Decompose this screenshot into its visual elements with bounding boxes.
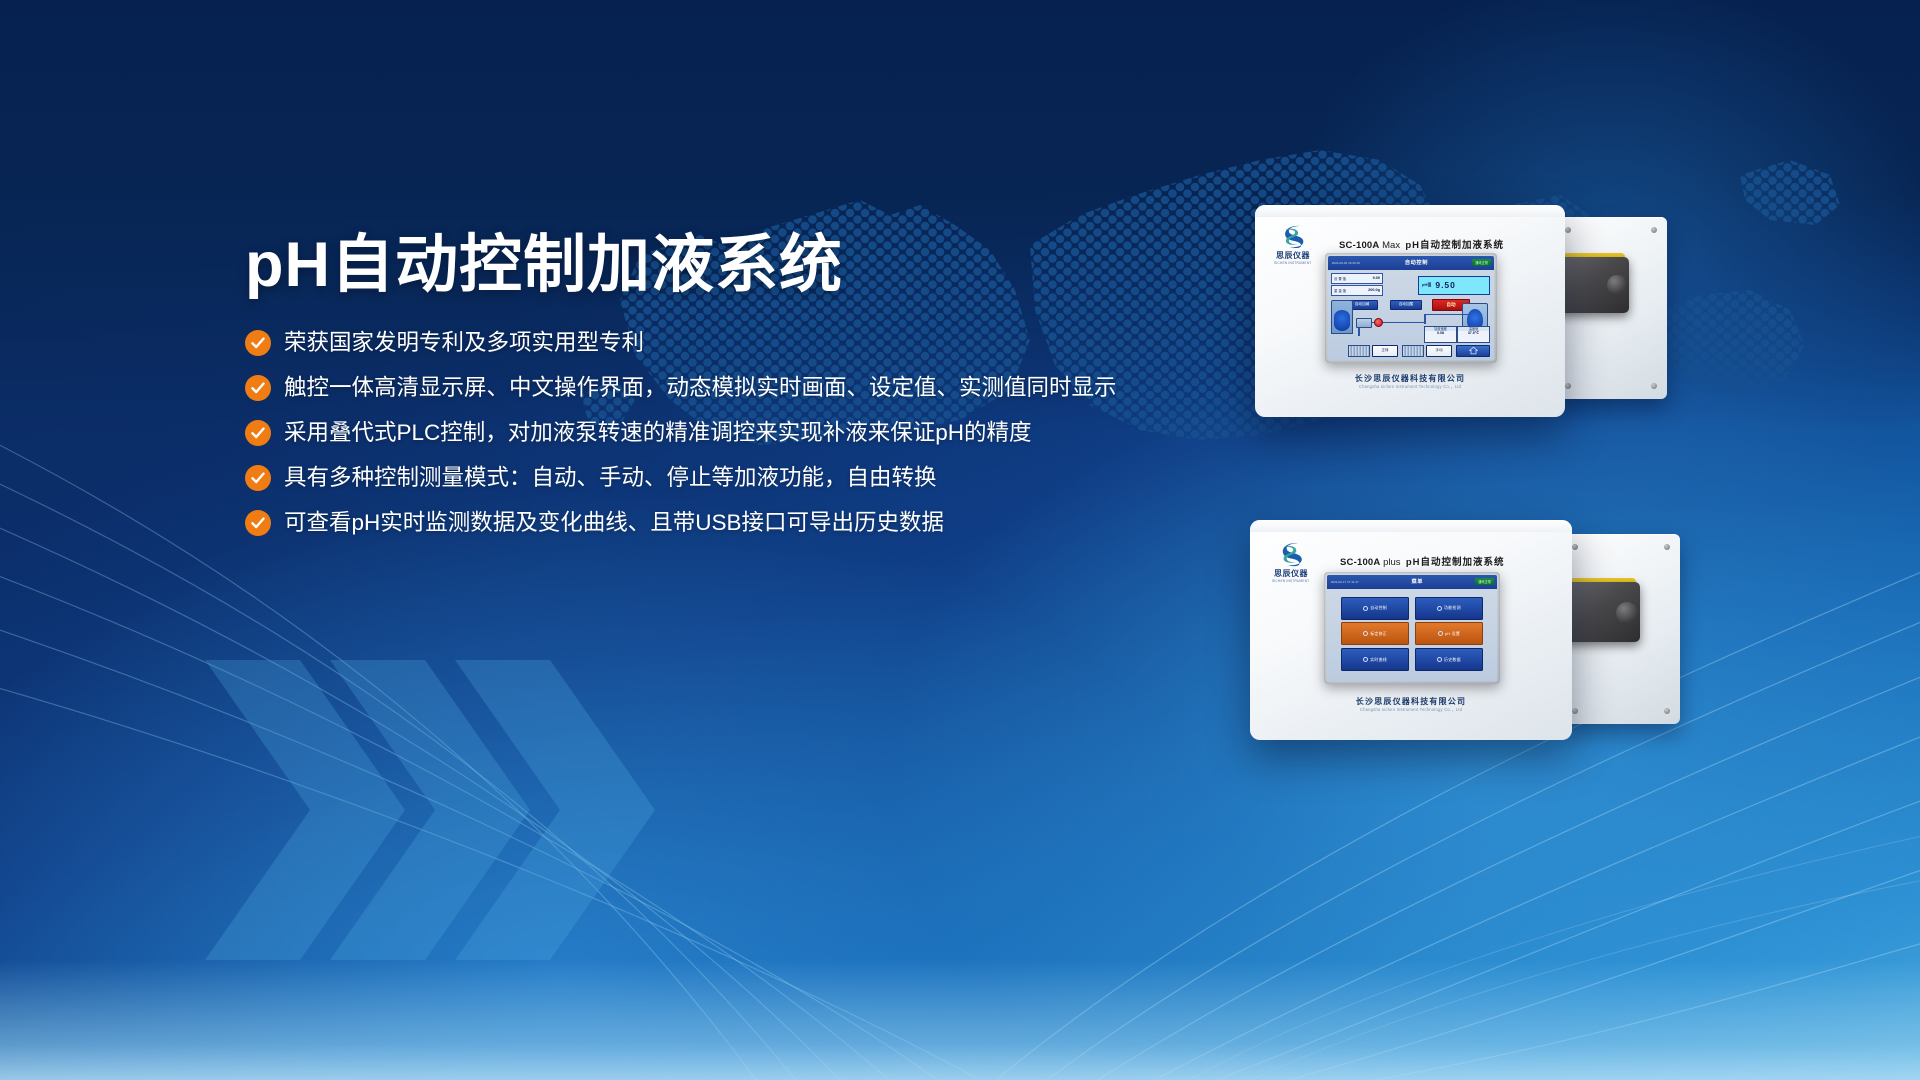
brand-logo: 思辰仪器 SICHEN INSTRUMENT bbox=[1268, 540, 1314, 583]
check-icon bbox=[245, 420, 271, 446]
screen-topbar: 2024-06-03 16:36:18 自动控制 通讯正常 bbox=[1328, 256, 1494, 270]
company-name-en: Changsha sichen Instrument Technology Co… bbox=[1250, 707, 1572, 713]
motor-graphic bbox=[1356, 318, 1372, 328]
menu-item-realtime-curve[interactable]: 实时曲线 bbox=[1341, 648, 1409, 671]
screen-title: 自动控制 bbox=[1405, 259, 1428, 266]
screen-topbar: 2024-02-17 17:11:47 菜单 通讯正常 bbox=[1327, 575, 1497, 589]
weight-value: 200.0g bbox=[1368, 288, 1380, 292]
hmi-screen-auto-control[interactable]: 2024-06-03 16:36:18 自动控制 通讯正常 设 置 值 9.00… bbox=[1328, 256, 1494, 360]
screen-body: 设 置 值 9.00 重 量 值 200.0g pH值 9.50 自动加碱 自 bbox=[1328, 270, 1494, 360]
measurement-values: 加液速度 0.08 温度值 37.5℃ bbox=[1424, 326, 1490, 343]
logo-text-en: SICHEN INSTRUMENT bbox=[1272, 579, 1309, 583]
screen-timestamp: 2024-02-17 17:11:47 bbox=[1331, 580, 1359, 584]
setpoint-field: 设 置 值 9.00 bbox=[1331, 273, 1383, 284]
rate-box: 加液速度 0.08 bbox=[1424, 326, 1457, 343]
tank-graphic bbox=[1331, 300, 1353, 334]
chevron-arrows bbox=[205, 660, 665, 960]
pipe-graphic bbox=[1358, 328, 1360, 336]
page-title: pH自动控制加液系统 bbox=[245, 232, 1265, 299]
home-icon[interactable] bbox=[1456, 345, 1490, 357]
product-photo-sc100a-plus: 思辰仪器 SICHEN INSTRUMENT SC-100A plus pH自动… bbox=[1250, 520, 1690, 790]
feature-text: 荣获国家发明专利及多项实用型专利 bbox=[284, 329, 644, 357]
logo-text-en: SICHEN INSTRUMENT bbox=[1274, 261, 1311, 265]
screen-title: 菜单 bbox=[1412, 578, 1424, 585]
target-icon bbox=[1363, 631, 1368, 636]
database-icon bbox=[1437, 657, 1442, 662]
device-model-label: SC-100A Max pH自动控制加液系统 bbox=[1339, 237, 1504, 251]
pipe-graphic bbox=[1424, 314, 1468, 316]
menu-label: pH 设置 bbox=[1445, 631, 1460, 637]
status-badge: 通讯正常 bbox=[1472, 259, 1491, 266]
screw-icon bbox=[1565, 227, 1571, 233]
screw-icon bbox=[1651, 383, 1657, 389]
weight-label: 重 量 值 bbox=[1334, 288, 1346, 293]
feature-text: 可查看pH实时监测数据及变化曲线、且带USB接口可导出历史数据 bbox=[284, 509, 944, 537]
screw-icon bbox=[1572, 544, 1578, 550]
model-name-cn: pH自动控制加液系统 bbox=[1406, 557, 1505, 568]
pipe-graphic bbox=[1424, 314, 1426, 324]
menu-item-calibration[interactable]: 标定修正 bbox=[1341, 622, 1409, 645]
device-body: 思辰仪器 SICHEN INSTRUMENT SC-100A Max pH自动控… bbox=[1255, 205, 1565, 417]
sliders-icon bbox=[1438, 631, 1443, 636]
device-top-edge bbox=[1255, 205, 1565, 217]
device-top-edge bbox=[1250, 520, 1572, 532]
model-name-cn: pH自动控制加液系统 bbox=[1405, 240, 1504, 251]
pump-graphic bbox=[1374, 318, 1383, 327]
screw-icon bbox=[1664, 708, 1670, 714]
ph-value: 9.50 bbox=[1435, 280, 1456, 290]
weight-field: 重 量 值 200.0g bbox=[1331, 285, 1383, 296]
device-footer: 长沙思辰仪器科技有限公司 Changsha sichen Instrument … bbox=[1250, 696, 1572, 713]
company-name-cn: 长沙思辰仪器科技有限公司 bbox=[1250, 696, 1572, 707]
check-icon bbox=[245, 465, 271, 491]
screen-timestamp: 2024-06-03 16:36:18 bbox=[1332, 261, 1360, 265]
feature-text: 触控一体高清显示屏、中文操作界面，动态模拟实时画面、设定值、实测值同时显示 bbox=[284, 374, 1117, 402]
menu-item-auto-control[interactable]: 自动控制 bbox=[1341, 597, 1409, 620]
bar-indicator bbox=[1402, 345, 1424, 357]
feature-list: 荣获国家发明专利及多项实用型专利 触控一体高清显示屏、中文操作界面，动态模拟实时… bbox=[245, 329, 1265, 538]
hmi-touchscreen[interactable]: 2024-06-03 16:36:18 自动控制 通讯正常 设 置 值 9.00… bbox=[1325, 253, 1497, 363]
menu-item-ph-settings[interactable]: pH 设置 bbox=[1415, 622, 1483, 645]
screw-icon bbox=[1651, 227, 1657, 233]
temp-box: 温度值 37.5℃ bbox=[1457, 326, 1490, 343]
model-suffix: plus bbox=[1383, 557, 1400, 568]
list-item: 具有多种控制测量模式：自动、手动、停止等加液功能，自由转换 bbox=[245, 464, 1265, 492]
manual-button[interactable]: 手动 bbox=[1426, 345, 1452, 357]
check-icon bbox=[245, 330, 271, 356]
company-name-cn: 长沙思辰仪器科技有限公司 bbox=[1255, 373, 1565, 384]
screw-icon bbox=[1572, 708, 1578, 714]
pump-knob bbox=[1616, 602, 1638, 624]
feature-text: 具有多种控制测量模式：自动、手动、停止等加液功能，自由转换 bbox=[284, 464, 937, 492]
setpoint-label: 设 置 值 bbox=[1334, 276, 1346, 281]
screw-icon bbox=[1664, 544, 1670, 550]
ph-label: pH值 bbox=[1422, 282, 1431, 288]
screen-body: 自动控制 功能检测 标定修正 bbox=[1327, 589, 1497, 681]
headline-block: pH自动控制加液系统 荣获国家发明专利及多项实用型专利 触控一体高清显示屏、中文… bbox=[245, 232, 1265, 554]
model-suffix: Max bbox=[1382, 240, 1400, 251]
list-item: 可查看pH实时监测数据及变化曲线、且带USB接口可导出历史数据 bbox=[245, 509, 1265, 537]
brand-logo: 思辰仪器 SICHEN INSTRUMENT bbox=[1271, 223, 1315, 265]
check-icon bbox=[245, 375, 271, 401]
rate-value: 0.08 bbox=[1425, 331, 1456, 337]
device-body: 思辰仪器 SICHEN INSTRUMENT SC-100A plus pH自动… bbox=[1250, 520, 1572, 740]
device-footer: 长沙思辰仪器科技有限公司 Changsha sichen Instrument … bbox=[1255, 373, 1565, 390]
menu-item-history-data[interactable]: 历史数据 bbox=[1415, 648, 1483, 671]
sichen-logo-icon bbox=[1271, 223, 1315, 249]
product-photo-sc100a-max: 思辰仪器 SICHEN INSTRUMENT SC-100A Max pH自动控… bbox=[1255, 205, 1685, 470]
feature-text: 采用叠代式PLC控制，对加液泵转速的精准调控来实现补液来保证pH的精度 bbox=[284, 419, 1032, 447]
device-model-label: SC-100A plus pH自动控制加液系统 bbox=[1340, 554, 1505, 568]
auto-acid-button[interactable]: 自动加酸 bbox=[1390, 300, 1422, 310]
ph-readout: pH值 9.50 bbox=[1418, 276, 1490, 295]
sichen-logo-icon bbox=[1268, 540, 1314, 567]
menu-label: 自动控制 bbox=[1370, 605, 1387, 611]
setpoint-value: 9.00 bbox=[1373, 276, 1380, 280]
temp-value: 37.5℃ bbox=[1458, 331, 1489, 337]
hmi-screen-menu[interactable]: 2024-02-17 17:11:47 菜单 通讯正常 自动控制 bbox=[1327, 575, 1497, 681]
hmi-touchscreen[interactable]: 2024-02-17 17:11:47 菜单 通讯正常 自动控制 bbox=[1324, 572, 1500, 684]
monitor-icon bbox=[1437, 606, 1442, 611]
menu-label: 标定修正 bbox=[1370, 631, 1387, 637]
logo-text-cn: 思辰仪器 bbox=[1274, 568, 1308, 579]
gear-icon bbox=[1363, 606, 1368, 611]
status-badge: 通讯正常 bbox=[1475, 578, 1494, 585]
bar-indicator bbox=[1348, 345, 1370, 357]
product-banner: pH自动控制加液系统 荣获国家发明专利及多项实用型专利 触控一体高清显示屏、中文… bbox=[0, 0, 1920, 1080]
model-code: SC-100A bbox=[1340, 557, 1380, 568]
menu-label: 实时曲线 bbox=[1370, 657, 1387, 663]
forward-button[interactable]: 正转 bbox=[1372, 345, 1398, 357]
logo-text-cn: 思辰仪器 bbox=[1276, 250, 1310, 261]
menu-label: 历史数据 bbox=[1444, 657, 1461, 663]
chart-icon bbox=[1363, 657, 1368, 662]
check-icon bbox=[245, 510, 271, 536]
background-bottom-fade bbox=[0, 960, 1920, 1080]
company-name-en: Changsha sichen Instrument Technology Co… bbox=[1255, 384, 1565, 390]
menu-item-function-test[interactable]: 功能检测 bbox=[1415, 597, 1483, 620]
list-item: 采用叠代式PLC控制，对加液泵转速的精准调控来实现补液来保证pH的精度 bbox=[245, 419, 1265, 447]
menu-label: 功能检测 bbox=[1444, 605, 1461, 611]
list-item: 触控一体高清显示屏、中文操作界面，动态模拟实时画面、设定值、实测值同时显示 bbox=[245, 374, 1265, 402]
list-item: 荣获国家发明专利及多项实用型专利 bbox=[245, 329, 1265, 357]
screw-icon bbox=[1565, 383, 1571, 389]
menu-grid: 自动控制 功能检测 标定修正 bbox=[1341, 597, 1483, 671]
model-code: SC-100A bbox=[1339, 240, 1379, 251]
pump-knob bbox=[1607, 275, 1627, 295]
